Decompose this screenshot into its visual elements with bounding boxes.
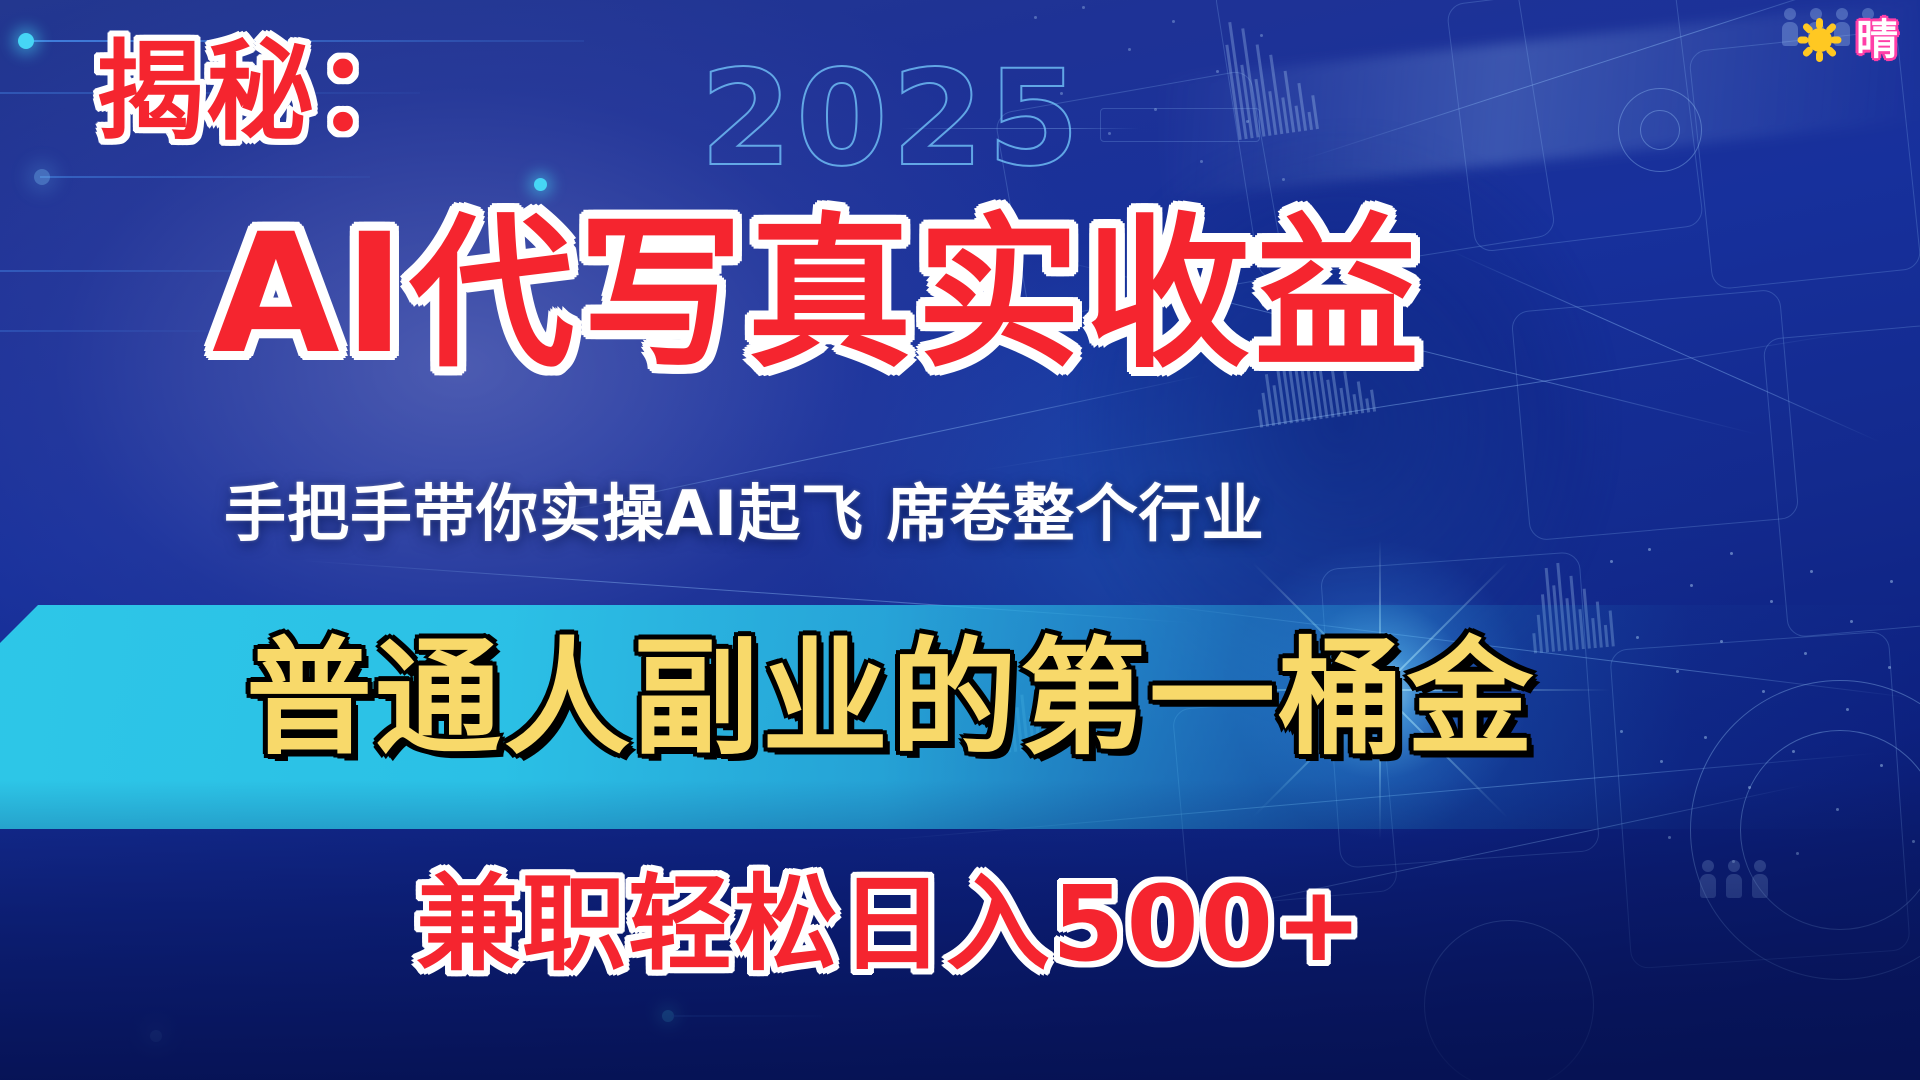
band-headline: 普通人副业的第一桶金 [246, 636, 1536, 762]
person-pictogram [1726, 860, 1742, 898]
hud-ring [1424, 920, 1594, 1080]
node-connector-line [40, 176, 370, 178]
network-line [1450, 250, 1880, 442]
person-pictogram [1752, 860, 1768, 898]
sub-headline: 手把手带你实操AI起飞 席卷整个行业 [224, 483, 1265, 545]
weather-widget: 晴 [1794, 14, 1898, 66]
glow-node-dot [534, 178, 547, 191]
hud-panel [1762, 322, 1920, 638]
hud-panel [1510, 289, 1799, 542]
glow-node-dot [662, 1010, 674, 1022]
glow-node-dot [18, 33, 34, 49]
waveform-graphic [1222, 10, 1319, 140]
bottom-headline: 兼职轻松日入500+ [416, 872, 1364, 976]
glow-node-dot [150, 1030, 162, 1042]
node-connector-line [672, 1015, 822, 1017]
main-headline: AI代写真实收益 [212, 212, 1423, 377]
year-watermark: 2025 [700, 42, 1083, 196]
sun-icon [1794, 14, 1846, 66]
hud-panel [1688, 30, 1920, 291]
people-pictogram-group [1700, 860, 1768, 898]
weather-label: 晴 [1856, 19, 1898, 61]
hud-panel [1100, 108, 1260, 142]
hud-panel [1446, 0, 1705, 253]
promo-poster: 2025 晴 揭秘： AI代写真实收益 手把手带你实操AI起飞 席卷整个行业 普… [0, 0, 1920, 1080]
hud-ring [1618, 88, 1702, 172]
kicker-text: 揭秘： [96, 36, 426, 149]
hud-ring [1640, 110, 1680, 150]
person-pictogram [1700, 860, 1716, 898]
glow-node-dot [34, 169, 50, 185]
node-connector-line [0, 330, 210, 332]
